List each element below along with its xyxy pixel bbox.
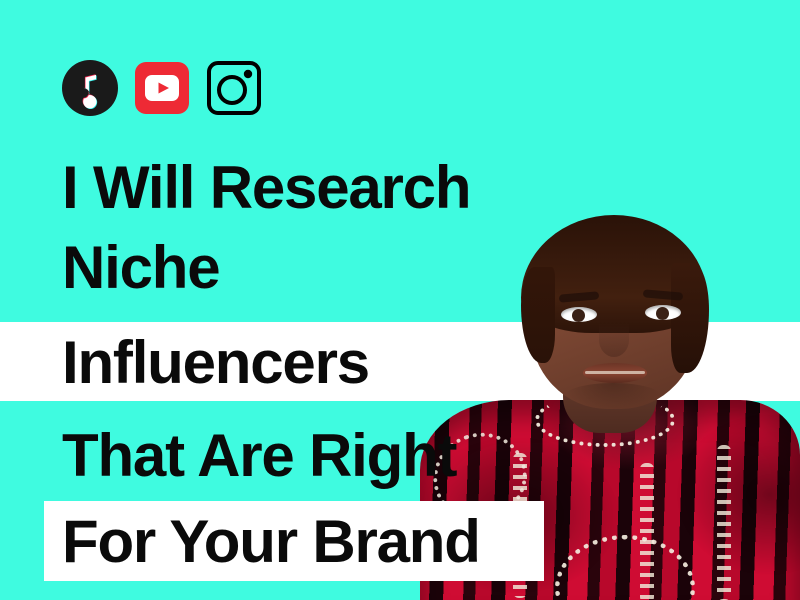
headline-line-2: Niche [62, 228, 219, 308]
presenter-teeth [585, 371, 645, 374]
headline-line-1: I Will Research [62, 148, 470, 228]
presenter-eye-right [645, 305, 681, 320]
presenter-pupil-right [656, 307, 669, 320]
presenter-hair-right [671, 263, 709, 373]
social-icons-row [60, 58, 264, 118]
tiktok-icon[interactable] [60, 58, 120, 118]
headline-line-4: That Are Right [62, 416, 456, 496]
presenter-hair-left [521, 267, 555, 363]
thumbnail-canvas: I Will Research Niche Influencers That A… [0, 0, 800, 600]
presenter-nose [599, 323, 629, 357]
presenter-pupil-left [572, 309, 585, 322]
instagram-icon[interactable] [204, 58, 264, 118]
presenter-chin-shadow [565, 383, 661, 409]
youtube-icon[interactable] [132, 58, 192, 118]
headline-line-5: For Your Brand [62, 502, 480, 582]
headline-line-3: Influencers [62, 323, 369, 403]
presenter-eye-left [561, 307, 597, 322]
garment-embroidery [717, 445, 731, 600]
